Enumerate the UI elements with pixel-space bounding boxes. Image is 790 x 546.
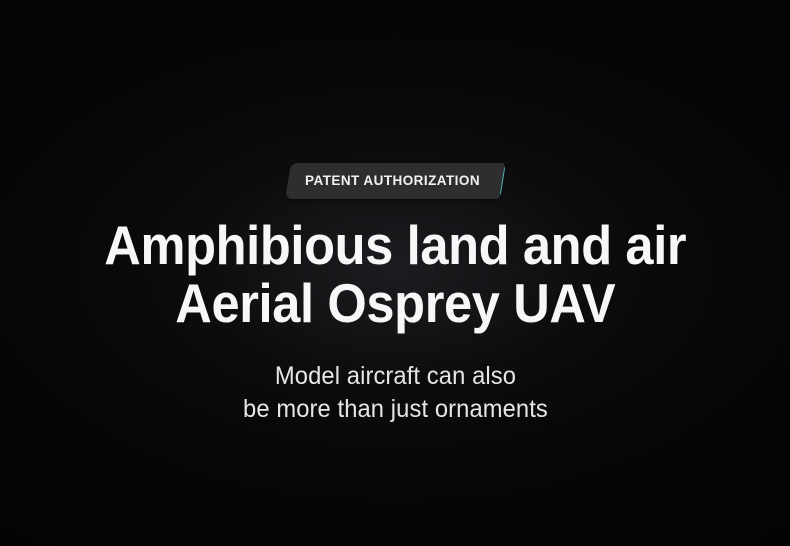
subtitle-line-1: Model aircraft can also	[243, 360, 548, 393]
headline-line-1: Amphibious land and air	[104, 216, 686, 274]
badge-label: PATENT AUTHORIZATION	[305, 174, 480, 188]
promo-banner: PATENT AUTHORIZATION Amphibious land and…	[0, 0, 790, 546]
badge-plate: PATENT AUTHORIZATION	[285, 163, 505, 199]
banner-content: PATENT AUTHORIZATION Amphibious land and…	[0, 0, 790, 546]
patent-authorization-badge: PATENT AUTHORIZATION	[288, 163, 502, 199]
subtitle-line-2: be more than just ornaments	[243, 393, 548, 426]
page-subtitle: Model aircraft can also be more than jus…	[243, 333, 548, 426]
headline-line-2: Aerial Osprey UAV	[104, 274, 686, 332]
page-title: Amphibious land and air Aerial Osprey UA…	[104, 199, 686, 333]
